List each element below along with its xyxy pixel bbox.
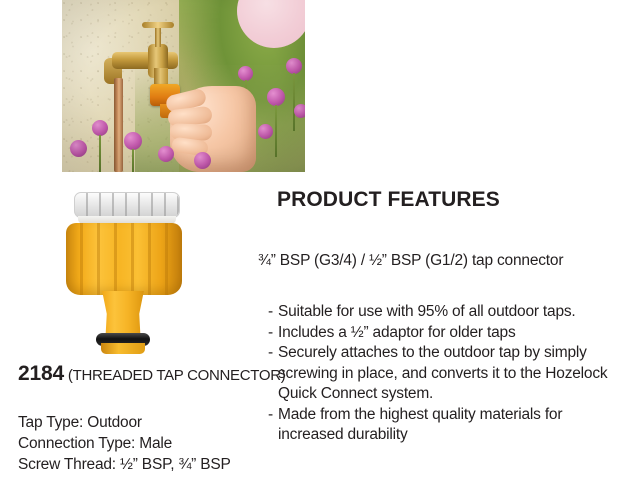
product-stem <box>94 291 152 335</box>
feature-text: Includes a ½” adaptor for older taps <box>278 323 628 344</box>
lifestyle-photo <box>62 0 305 172</box>
product-collar-ribs <box>75 193 179 217</box>
product-nut-ribs <box>66 223 182 295</box>
product-features-subtitle: ¾” BSP (G3/4) / ½” BSP (G1/2) tap connec… <box>258 252 563 270</box>
product-nut <box>66 223 182 295</box>
spec-tap-type: Tap Type: Outdoor <box>18 412 258 433</box>
product-specs: Tap Type: Outdoor Connection Type: Male … <box>18 412 258 475</box>
product-code-line: 2184(THREADED TAP CONNECTOR) <box>18 362 285 386</box>
bullet-dash: - <box>268 343 278 405</box>
bullet-dash: - <box>268 302 278 323</box>
spec-screw-thread: Screw Thread: ½” BSP, ¾” BSP <box>18 454 258 475</box>
product-tip <box>101 343 145 354</box>
feature-text: Made from the highest quality materials … <box>278 405 628 446</box>
product-features-heading: PRODUCT FEATURES <box>277 188 500 212</box>
product-image <box>60 192 182 354</box>
spec-connection-type: Connection Type: Male <box>18 433 258 454</box>
feature-item: - Includes a ½” adaptor for older taps <box>268 323 628 344</box>
bullet-dash: - <box>268 323 278 344</box>
product-collar <box>74 192 180 218</box>
feature-text: Suitable for use with 95% of all outdoor… <box>278 302 628 323</box>
feature-item: - Securely attaches to the outdoor tap b… <box>268 343 628 405</box>
product-code: 2184 <box>18 362 64 385</box>
feature-item: - Made from the highest quality material… <box>268 405 628 446</box>
product-name: (THREADED TAP CONNECTOR) <box>68 367 286 384</box>
feature-item: - Suitable for use with 95% of all outdo… <box>268 302 628 323</box>
product-features-list: - Suitable for use with 95% of all outdo… <box>268 302 628 446</box>
bullet-dash: - <box>268 405 278 446</box>
feature-text: Securely attaches to the outdoor tap by … <box>278 343 628 405</box>
